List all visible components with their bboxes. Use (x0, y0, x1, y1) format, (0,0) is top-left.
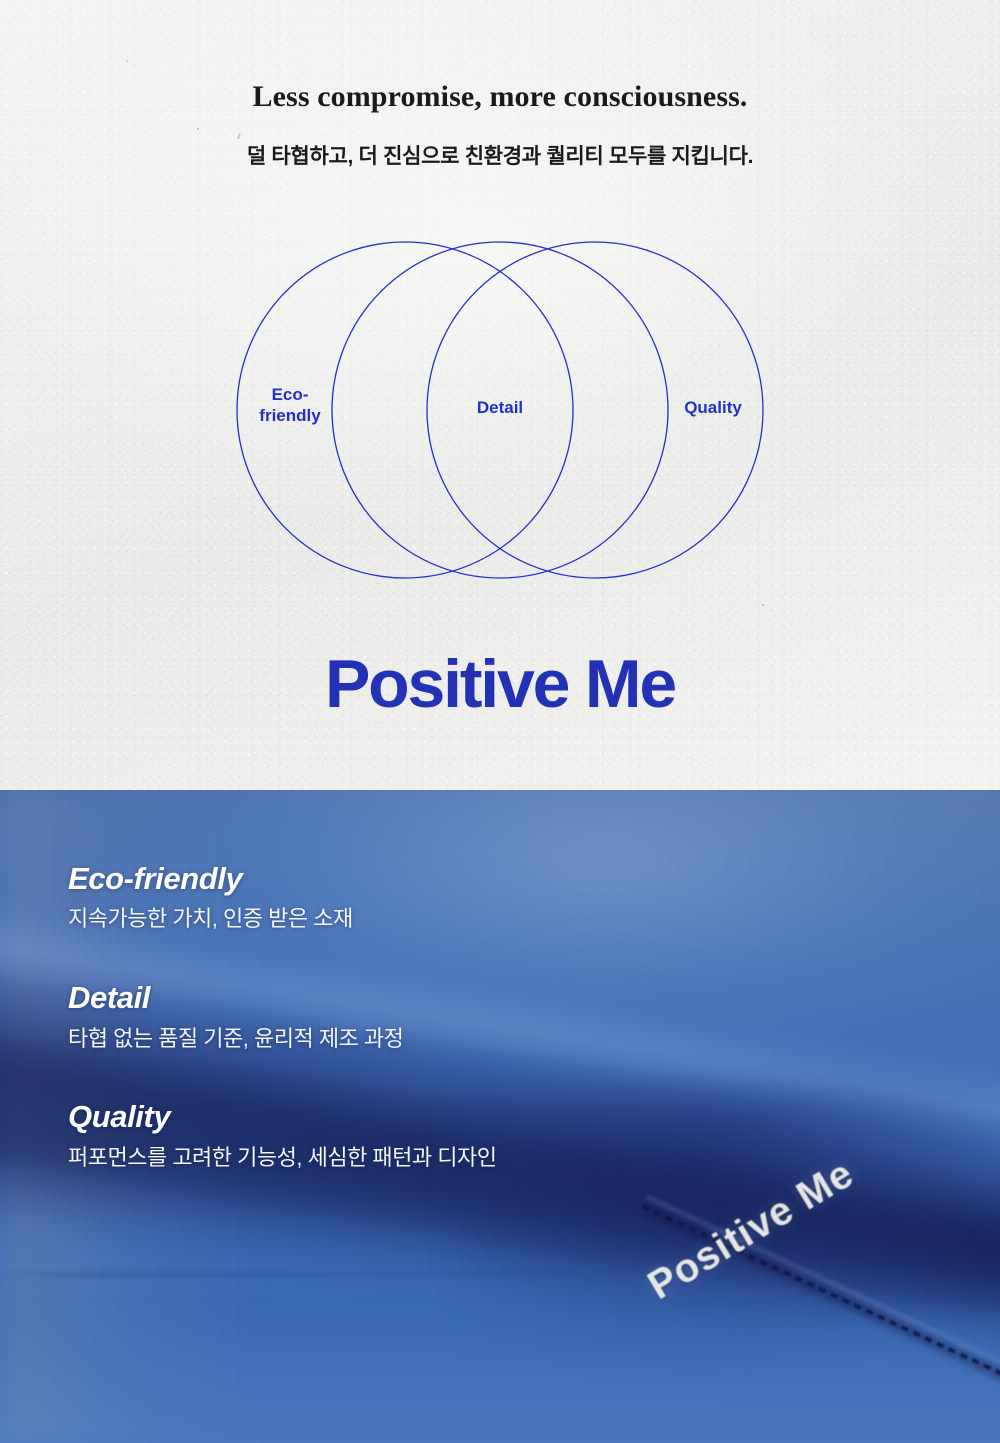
product-detail-page: Less compromise, more consciousness. 덜 타… (0, 0, 1000, 1443)
brand-values-hero-section: Less compromise, more consciousness. 덜 타… (0, 0, 1000, 790)
value-title-quality: Quality (68, 1100, 828, 1133)
value-title-detail: Detail (68, 981, 828, 1014)
value-item-detail: Detail 타협 없는 품질 기준, 윤리적 제조 과정 (68, 981, 828, 1053)
fabric-crease-line (0, 1273, 660, 1276)
venn-label-quality: Quality (658, 398, 768, 419)
page-title: Less compromise, more consciousness. (0, 80, 1000, 114)
venn-diagram: Eco- friendly Detail Quality (230, 235, 770, 585)
venn-label-eco-friendly: Eco- friendly (235, 385, 345, 426)
brand-values-list: Eco-friendly 지속가능한 가치, 인증 받은 소재 Detail 타… (68, 862, 828, 1172)
paper-speck (197, 128, 199, 130)
fabric-bottom-highlight (0, 1312, 1000, 1443)
value-item-quality: Quality 퍼포먼스를 고려한 기능성, 세심한 패턴과 디자인 (68, 1100, 828, 1172)
brand-logo-wordmark: Positive Me (0, 645, 1000, 723)
value-description-eco-friendly: 지속가능한 가치, 인증 받은 소재 (68, 904, 828, 934)
value-description-detail: 타협 없는 품질 기준, 윤리적 제조 과정 (68, 1024, 828, 1054)
paper-speck (237, 133, 241, 139)
venn-label-detail: Detail (445, 398, 555, 419)
value-description-quality: 퍼포먼스를 고려한 기능성, 세심한 패턴과 디자인 (68, 1143, 828, 1173)
value-item-eco-friendly: Eco-friendly 지속가능한 가치, 인증 받은 소재 (68, 862, 828, 934)
page-subtitle: 덜 타협하고, 더 진심으로 친환경과 퀄리티 모두를 지킵니다. (0, 140, 1000, 170)
paper-speck (126, 60, 128, 62)
value-title-eco-friendly: Eco-friendly (68, 862, 828, 895)
paper-speck (762, 604, 764, 606)
